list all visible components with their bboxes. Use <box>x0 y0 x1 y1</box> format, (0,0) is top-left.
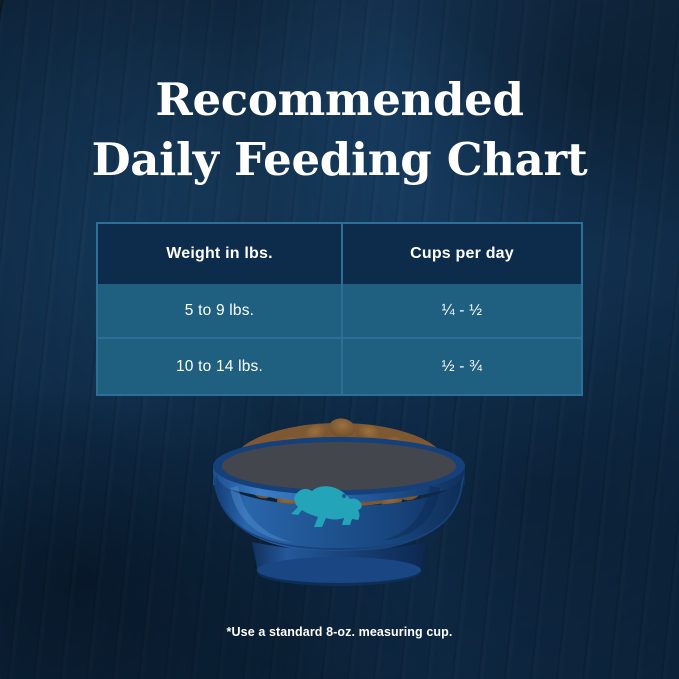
dog-food-bowl-illustration <box>0 390 679 590</box>
column-header-cups: Cups per day <box>343 224 581 284</box>
cell-cups-per-day-2: ½ - ¾ <box>343 339 581 394</box>
cell-cups-per-day-1: ¼ - ½ <box>343 284 581 339</box>
footnote-text: *Use a standard 8-oz. measuring cup. <box>0 625 679 639</box>
column-header-weight: Weight in lbs. <box>98 224 343 284</box>
page-title-line-1: Recommended <box>155 73 523 126</box>
cell-weight-range-1: 5 to 9 lbs. <box>98 284 343 339</box>
table-row: 5 to 9 lbs. ¼ - ½ <box>98 284 581 339</box>
table-header-row: Weight in lbs. Cups per day <box>98 224 581 284</box>
page-title: Recommended Daily Feeding Chart <box>0 70 679 190</box>
feeding-chart-page: Recommended Daily Feeding Chart Weight i… <box>0 0 679 679</box>
cell-weight-range-2: 10 to 14 lbs. <box>98 339 343 394</box>
table-row: 10 to 14 lbs. ½ - ¾ <box>98 339 581 394</box>
page-title-line-2: Daily Feeding Chart <box>0 130 679 190</box>
feeding-chart-table: Weight in lbs. Cups per day 5 to 9 lbs. … <box>96 222 583 396</box>
